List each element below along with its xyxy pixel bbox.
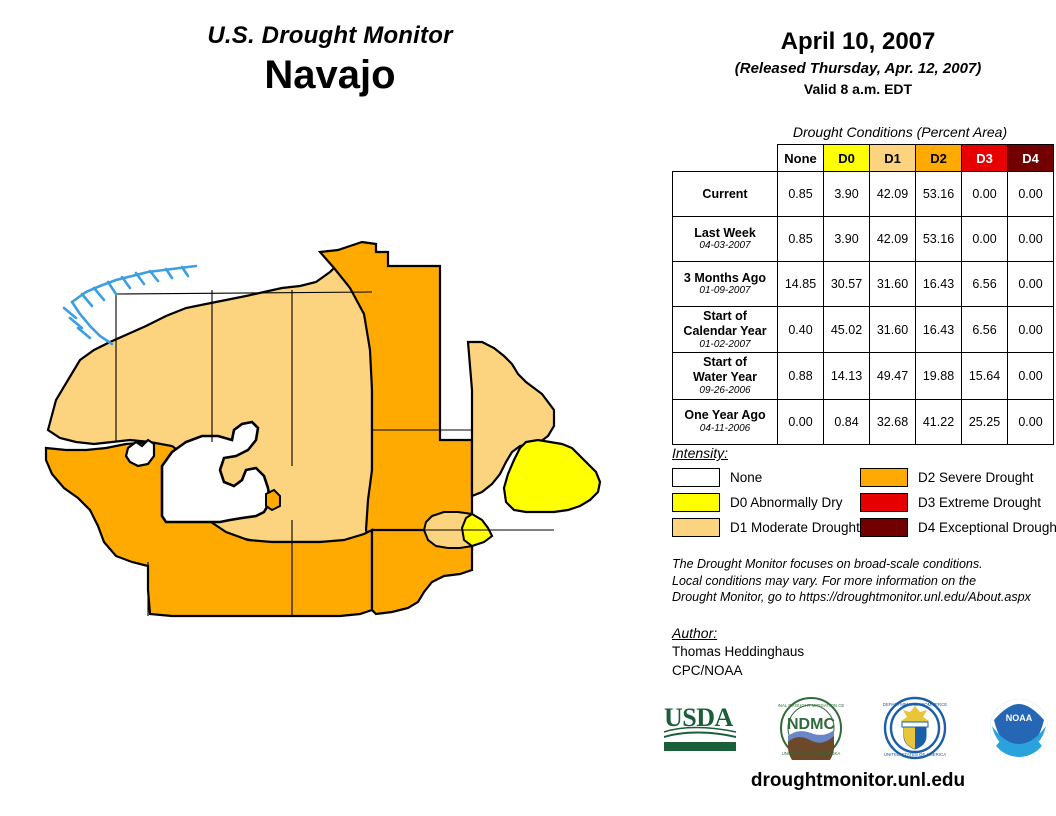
legend-item-d1: D1 Moderate Drought <box>672 518 860 536</box>
row-label-text: Start of <box>677 355 773 370</box>
table-row: Start ofCalendar Year01-02-20070.4045.02… <box>673 307 1054 353</box>
row-label: Last Week04-03-2007 <box>673 217 778 262</box>
table-header-row: None D0 D1 D2 D3 D4 <box>673 145 1054 172</box>
usdc-logo: DEPARTMENT OF COMMERCE UNITED STATES OF … <box>882 696 948 760</box>
table-cell-d3: 0.00 <box>962 172 1008 217</box>
table-row: Current0.853.9042.0953.160.000.00 <box>673 172 1054 217</box>
table-cell-d4: 0.00 <box>1008 353 1054 399</box>
legend-swatch-d3 <box>860 493 908 512</box>
table-cell-d0: 3.90 <box>824 217 870 262</box>
disclaimer-note: The Drought Monitor focuses on broad-sca… <box>672 556 1052 606</box>
svg-text:NDMC: NDMC <box>787 716 835 733</box>
table-cell-d4: 0.00 <box>1008 399 1054 444</box>
release-date: (Released Thursday, Apr. 12, 2007) <box>660 60 1056 77</box>
svg-text:NOAA: NOAA <box>1006 713 1033 723</box>
table-cell-d1: 42.09 <box>870 217 916 262</box>
table-row: Last Week04-03-20070.853.9042.0953.160.0… <box>673 217 1054 262</box>
col-header-d0: D0 <box>824 145 870 172</box>
issue-date: April 10, 2007 <box>660 28 1056 56</box>
row-label-text: Start of <box>677 309 773 324</box>
noaa-logo: NOAA <box>986 696 1052 760</box>
table-corner-cell <box>673 145 778 172</box>
row-label-text: One Year Ago <box>677 408 773 423</box>
row-label: Current <box>673 172 778 217</box>
table-cell-d1: 32.68 <box>870 399 916 444</box>
date-block: April 10, 2007 (Released Thursday, Apr. … <box>660 28 1056 97</box>
author-block: Thomas Heddinghaus CPC/NOAA <box>672 643 804 680</box>
ndmc-logo: NDMC NATIONAL DROUGHT MITIGATION CENTER … <box>778 696 844 760</box>
row-label-date: 09-26-2006 <box>677 385 773 397</box>
table-cell-d3: 0.00 <box>962 217 1008 262</box>
table-row: Start ofWater Year09-26-20060.8814.1349.… <box>673 353 1054 399</box>
row-label-text: Current <box>677 187 773 202</box>
table-cell-none: 0.85 <box>778 172 824 217</box>
table-cell-d1: 31.60 <box>870 262 916 307</box>
table-cell-d3: 25.25 <box>962 399 1008 444</box>
svg-text:NATIONAL DROUGHT MITIGATION CE: NATIONAL DROUGHT MITIGATION CENTER <box>778 703 844 708</box>
svg-text:DEPARTMENT OF COMMERCE: DEPARTMENT OF COMMERCE <box>883 702 947 707</box>
table-cell-none: 14.85 <box>778 262 824 307</box>
row-label: Start ofCalendar Year01-02-2007 <box>673 307 778 353</box>
valid-time: Valid 8 a.m. EDT <box>660 81 1056 97</box>
table-cell-none: 0.85 <box>778 217 824 262</box>
table-cell-d1: 49.47 <box>870 353 916 399</box>
col-header-d1: D1 <box>870 145 916 172</box>
table-cell-d2: 53.16 <box>916 172 962 217</box>
legend-label-d3: D3 Extreme Drought <box>918 495 1041 510</box>
row-label: Start ofWater Year09-26-2006 <box>673 353 778 399</box>
legend-item-d2: D2 Severe Drought <box>860 468 1048 486</box>
legend-label-none: None <box>730 470 762 485</box>
site-url[interactable]: droughtmonitor.unl.edu <box>660 770 1056 792</box>
table-cell-d3: 6.56 <box>962 307 1008 353</box>
row-label: One Year Ago04-11-2006 <box>673 399 778 444</box>
legend-item-none: None <box>672 468 860 486</box>
table-cell-d2: 53.16 <box>916 217 962 262</box>
legend-label-d4: D4 Exceptional Drought <box>918 520 1056 535</box>
table-row: 3 Months Ago01-09-200714.8530.5731.6016.… <box>673 262 1054 307</box>
svg-text:UNIVERSITY OF NEBRASKA: UNIVERSITY OF NEBRASKA <box>782 751 841 756</box>
logo-row: USDA NDMC NATIONAL DROUGHT MITIGATION CE… <box>662 694 1052 762</box>
table-cell-d0: 3.90 <box>824 172 870 217</box>
author-affiliation: CPC/NOAA <box>672 662 804 681</box>
drought-conditions-table: None D0 D1 D2 D3 D4 Current0.853.9042.09… <box>672 144 1054 445</box>
row-label-text: Calendar Year <box>677 324 773 339</box>
row-label-date: 04-11-2006 <box>677 423 773 435</box>
map-polygons <box>46 242 644 690</box>
table-cell-none: 0.88 <box>778 353 824 399</box>
author-heading: Author: <box>672 625 717 641</box>
drought-map[interactable] <box>20 230 660 690</box>
col-header-none: None <box>778 145 824 172</box>
legend-item-d0: D0 Abnormally Dry <box>672 493 860 511</box>
table-body: Current0.853.9042.0953.160.000.00Last We… <box>673 172 1054 445</box>
row-label-date: 01-09-2007 <box>677 285 773 297</box>
row-label-text: 3 Months Ago <box>677 271 773 286</box>
col-header-d2: D2 <box>916 145 962 172</box>
row-label-date: 01-02-2007 <box>677 339 773 351</box>
col-header-d3: D3 <box>962 145 1008 172</box>
region-d2-inclusion <box>266 490 280 510</box>
svg-text:UNITED STATES OF AMERICA: UNITED STATES OF AMERICA <box>884 752 946 757</box>
region-d0-east <box>504 440 600 512</box>
table-cell-none: 0.00 <box>778 399 824 444</box>
row-label: 3 Months Ago01-09-2007 <box>673 262 778 307</box>
table-cell-d3: 15.64 <box>962 353 1008 399</box>
table-cell-d4: 0.00 <box>1008 217 1054 262</box>
table-cell-none: 0.40 <box>778 307 824 353</box>
table-cell-d3: 6.56 <box>962 262 1008 307</box>
navajo-nation-map-svg <box>20 230 660 690</box>
table-cell-d4: 0.00 <box>1008 172 1054 217</box>
table-cell-d2: 41.22 <box>916 399 962 444</box>
legend-swatch-d1 <box>672 518 720 537</box>
usda-logo: USDA <box>662 702 740 754</box>
intensity-heading: Intensity: <box>672 445 728 461</box>
row-label-text: Water Year <box>677 370 773 385</box>
table-row: One Year Ago04-11-20060.000.8432.6841.22… <box>673 399 1054 444</box>
author-name: Thomas Heddinghaus <box>672 643 804 662</box>
legend-swatch-d4 <box>860 518 908 537</box>
table-cell-d4: 0.00 <box>1008 262 1054 307</box>
table-cell-d4: 0.00 <box>1008 307 1054 353</box>
col-header-d4: D4 <box>1008 145 1054 172</box>
row-label-date: 04-03-2007 <box>677 240 773 252</box>
table-cell-d2: 16.43 <box>916 262 962 307</box>
table-cell-d0: 0.84 <box>824 399 870 444</box>
intensity-legend: NoneD2 Severe DroughtD0 Abnormally DryD3… <box>672 468 1048 536</box>
legend-swatch-none <box>672 468 720 487</box>
row-label-text: Last Week <box>677 226 773 241</box>
region-title: Navajo <box>0 54 660 96</box>
table-cell-d2: 19.88 <box>916 353 962 399</box>
map-title-block: U.S. Drought Monitor Navajo <box>0 22 660 96</box>
legend-label-d0: D0 Abnormally Dry <box>730 495 843 510</box>
table-cell-d0: 45.02 <box>824 307 870 353</box>
legend-label-d2: D2 Severe Drought <box>918 470 1034 485</box>
table-caption: Drought Conditions (Percent Area) <box>745 124 1055 140</box>
table-cell-d1: 42.09 <box>870 172 916 217</box>
legend-swatch-d2 <box>860 468 908 487</box>
table-cell-d0: 14.13 <box>824 353 870 399</box>
legend-item-d3: D3 Extreme Drought <box>860 493 1048 511</box>
table-cell-d2: 16.43 <box>916 307 962 353</box>
page-title: U.S. Drought Monitor <box>0 22 660 50</box>
legend-swatch-d0 <box>672 493 720 512</box>
table-cell-d0: 30.57 <box>824 262 870 307</box>
legend-item-d4: D4 Exceptional Drought <box>860 518 1048 536</box>
table-cell-d1: 31.60 <box>870 307 916 353</box>
legend-label-d1: D1 Moderate Drought <box>730 520 860 535</box>
